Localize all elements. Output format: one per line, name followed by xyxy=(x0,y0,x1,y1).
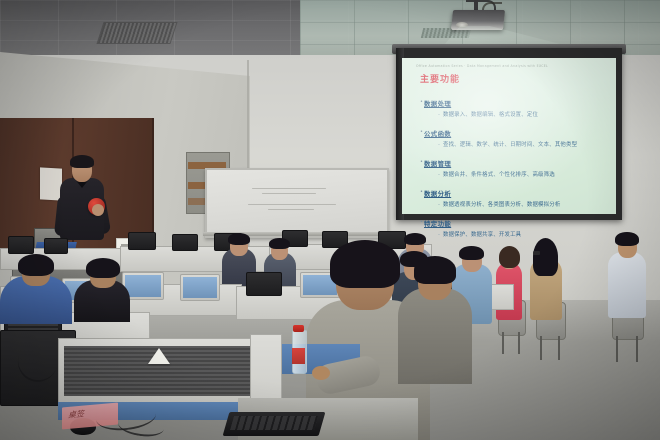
whiteboard-writing xyxy=(248,204,336,205)
slide-title: 主要功能 xyxy=(420,72,608,85)
keyboard-keys[interactable] xyxy=(230,416,318,430)
slide-bullet-group: •数据处理 -数据录入、数据编辑、格式设置、定位 xyxy=(420,91,608,118)
monitor-back xyxy=(172,234,198,251)
whiteboard-writing xyxy=(268,209,314,210)
monitor-back xyxy=(44,238,68,254)
desk-label-text: 桌签 xyxy=(68,408,84,420)
slide-bullet-group: •数据管理 -数据合并、条件格式、个性化排序、高级筛选 xyxy=(420,151,608,178)
monitor-back xyxy=(128,232,156,250)
slide-bullet-sub: -查找、逻辑、数学、统计、日期时间、文本、其他类型 xyxy=(438,140,608,148)
presenter-hair xyxy=(70,155,94,168)
student-torso xyxy=(608,252,646,318)
projected-slide: Office Automation Series · Data Manageme… xyxy=(402,58,616,214)
student-hair xyxy=(459,246,484,260)
wall-notice-paper xyxy=(40,167,62,200)
slide-bullet-sub: -数据合并、条件格式、个性化排序、高级筛选 xyxy=(438,170,608,178)
chair-leg xyxy=(558,336,560,360)
student-hair xyxy=(404,233,426,245)
presenter-hand xyxy=(92,204,104,216)
glasses-icon xyxy=(533,251,540,255)
slide-bullet-heading: 数据管理 xyxy=(424,160,451,168)
chair-leg xyxy=(616,336,618,362)
slide-bullet-sub-text: 数据保护、数据共享、开发工具 xyxy=(443,232,521,238)
monitor-back xyxy=(8,236,34,254)
water-bottle-cap xyxy=(293,325,304,332)
student-hair xyxy=(228,233,250,245)
water-bottle-label xyxy=(292,348,305,364)
chair-leg xyxy=(540,336,542,360)
slide-bullet-sub-text: 数据透视表分析、各类图表分析、数据模拟分析 xyxy=(443,202,560,208)
chair-leg xyxy=(636,336,638,362)
chair-leg xyxy=(518,332,520,354)
student-hair xyxy=(269,238,290,249)
student-hair xyxy=(330,240,400,288)
classroom-scene: Office Automation Series · Data Manageme… xyxy=(0,0,660,440)
projector-lens xyxy=(456,22,468,28)
slide-bullet-heading: 数据分析 xyxy=(424,190,451,198)
slide-bullet-group: •数据分析 -数据透视表分析、各类图表分析、数据模拟分析 xyxy=(420,181,608,208)
ceiling-air-vent xyxy=(96,22,177,44)
whiteboard-writing xyxy=(252,188,326,189)
student-hair xyxy=(86,258,120,278)
slide-bullet-heading: 公式函数 xyxy=(424,130,451,138)
whiteboard xyxy=(205,168,389,238)
slide-bullet-group: •公式函数 -查找、逻辑、数学、统计、日期时间、文本、其他类型 xyxy=(420,121,608,148)
slide-header-line: Office Automation Series · Data Manageme… xyxy=(416,64,608,68)
slide-bullet-sub: -数据保护、数据共享、开发工具 xyxy=(438,230,608,238)
student-hand-foreground xyxy=(312,366,330,380)
student-hair-long xyxy=(533,238,558,276)
student-hair xyxy=(414,256,456,284)
slide-bullet-sub: -数据录入、数据编辑、格式设置、定位 xyxy=(438,110,608,118)
slide-bullet-sub: -数据透视表分析、各类图表分析、数据模拟分析 xyxy=(438,200,608,208)
slide-bullet-group: •特定功能 -数据保护、数据共享、开发工具 xyxy=(420,211,608,238)
slide-bullet-sub-text: 数据录入、数据编辑、格式设置、定位 xyxy=(443,112,538,118)
slide-bullet-heading: 数据处理 xyxy=(424,100,451,108)
student-hair xyxy=(499,246,520,268)
slide-bullet-heading: 特定功能 xyxy=(424,220,451,228)
chair-leg xyxy=(502,332,504,354)
student-hair xyxy=(615,232,639,246)
whiteboard-writing xyxy=(262,193,316,194)
student-torso xyxy=(398,288,472,384)
monitor-back xyxy=(246,272,282,296)
folded-paper-tent xyxy=(148,348,170,364)
monitor-screen xyxy=(125,275,161,297)
student-hair xyxy=(18,254,54,276)
monitor-screen xyxy=(183,277,217,298)
slide-bullet-sub-text: 查找、逻辑、数学、统计、日期时间、文本、其他类型 xyxy=(443,142,577,148)
slide-bullet-sub-text: 数据合并、条件格式、个性化排序、高级筛选 xyxy=(443,172,555,178)
